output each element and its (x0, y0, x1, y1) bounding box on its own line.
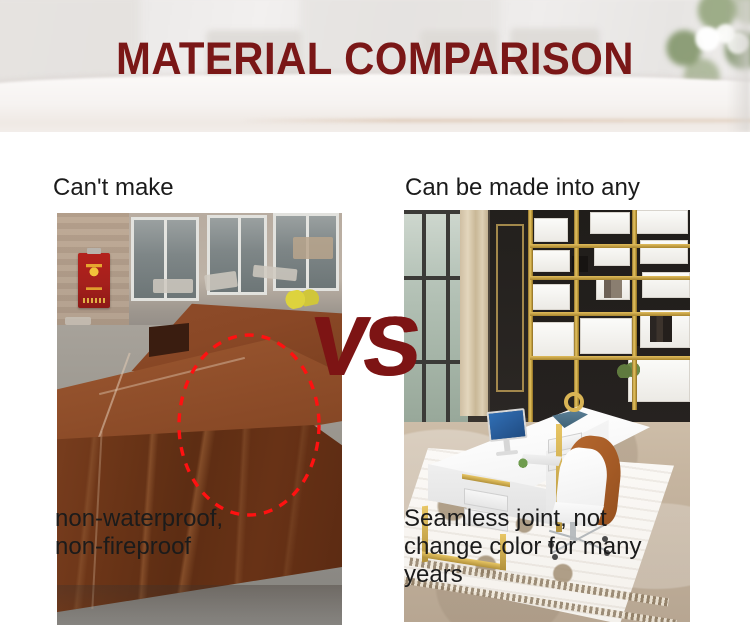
comparison-body: Can't make seamless connection Can be ma… (0, 132, 750, 643)
right-caption-line3: years (404, 561, 641, 589)
left-photo-red-can (78, 253, 110, 308)
left-caption: non-waterproof, non-fireproof (55, 505, 223, 561)
right-photo-books (604, 278, 622, 298)
right-photo-panel-gold-trim (496, 224, 524, 392)
seam-highlight-ellipse (175, 331, 323, 519)
right-photo-gold-rail (530, 244, 690, 248)
right-photo-gold-rail (530, 312, 690, 316)
right-photo-desk-plant (516, 456, 530, 468)
right-photo-decor-gold-ring (564, 392, 584, 412)
right-photo-shelf-box (534, 218, 568, 242)
right-photo-shelf-box (590, 212, 630, 234)
right-heading-line1: Can be made into any (405, 174, 640, 201)
banner-right-shading (728, 0, 750, 132)
right-photo-curtain (460, 210, 488, 416)
right-photo-gold-rail (530, 276, 690, 280)
vs-badge: VS (299, 300, 429, 392)
right-caption-line2: change color for many (404, 533, 641, 561)
left-heading-line1: Can't make (53, 174, 174, 201)
left-photo-debris-1 (153, 279, 193, 293)
left-photo (57, 213, 342, 625)
right-caption-line1: Seamless joint, not (404, 505, 641, 533)
page-title: MATERIAL COMPARISON (26, 33, 724, 85)
left-photo-desk-shadow (57, 585, 342, 625)
right-photo-shelf-box (530, 284, 570, 310)
right-photo-shelf-box (636, 210, 688, 234)
right-photo-gold-post (632, 210, 637, 410)
left-caption-line1: non-waterproof, (55, 505, 223, 533)
left-photo-debris-5 (65, 317, 91, 325)
banner-desk-edge-line (240, 119, 750, 122)
right-photo-books (650, 312, 672, 342)
banner: MATERIAL COMPARISON (0, 0, 750, 132)
right-photo-cabinet (528, 322, 574, 358)
right-photo-gold-rail (530, 356, 690, 360)
right-caption: Seamless joint, not change color for man… (404, 505, 641, 589)
right-photo-cabinet (580, 318, 632, 354)
left-photo-debris-4 (293, 237, 333, 259)
right-photo-shelf-box (532, 250, 570, 272)
left-caption-line2: non-fireproof (55, 533, 223, 561)
right-photo-monitor (487, 408, 528, 442)
